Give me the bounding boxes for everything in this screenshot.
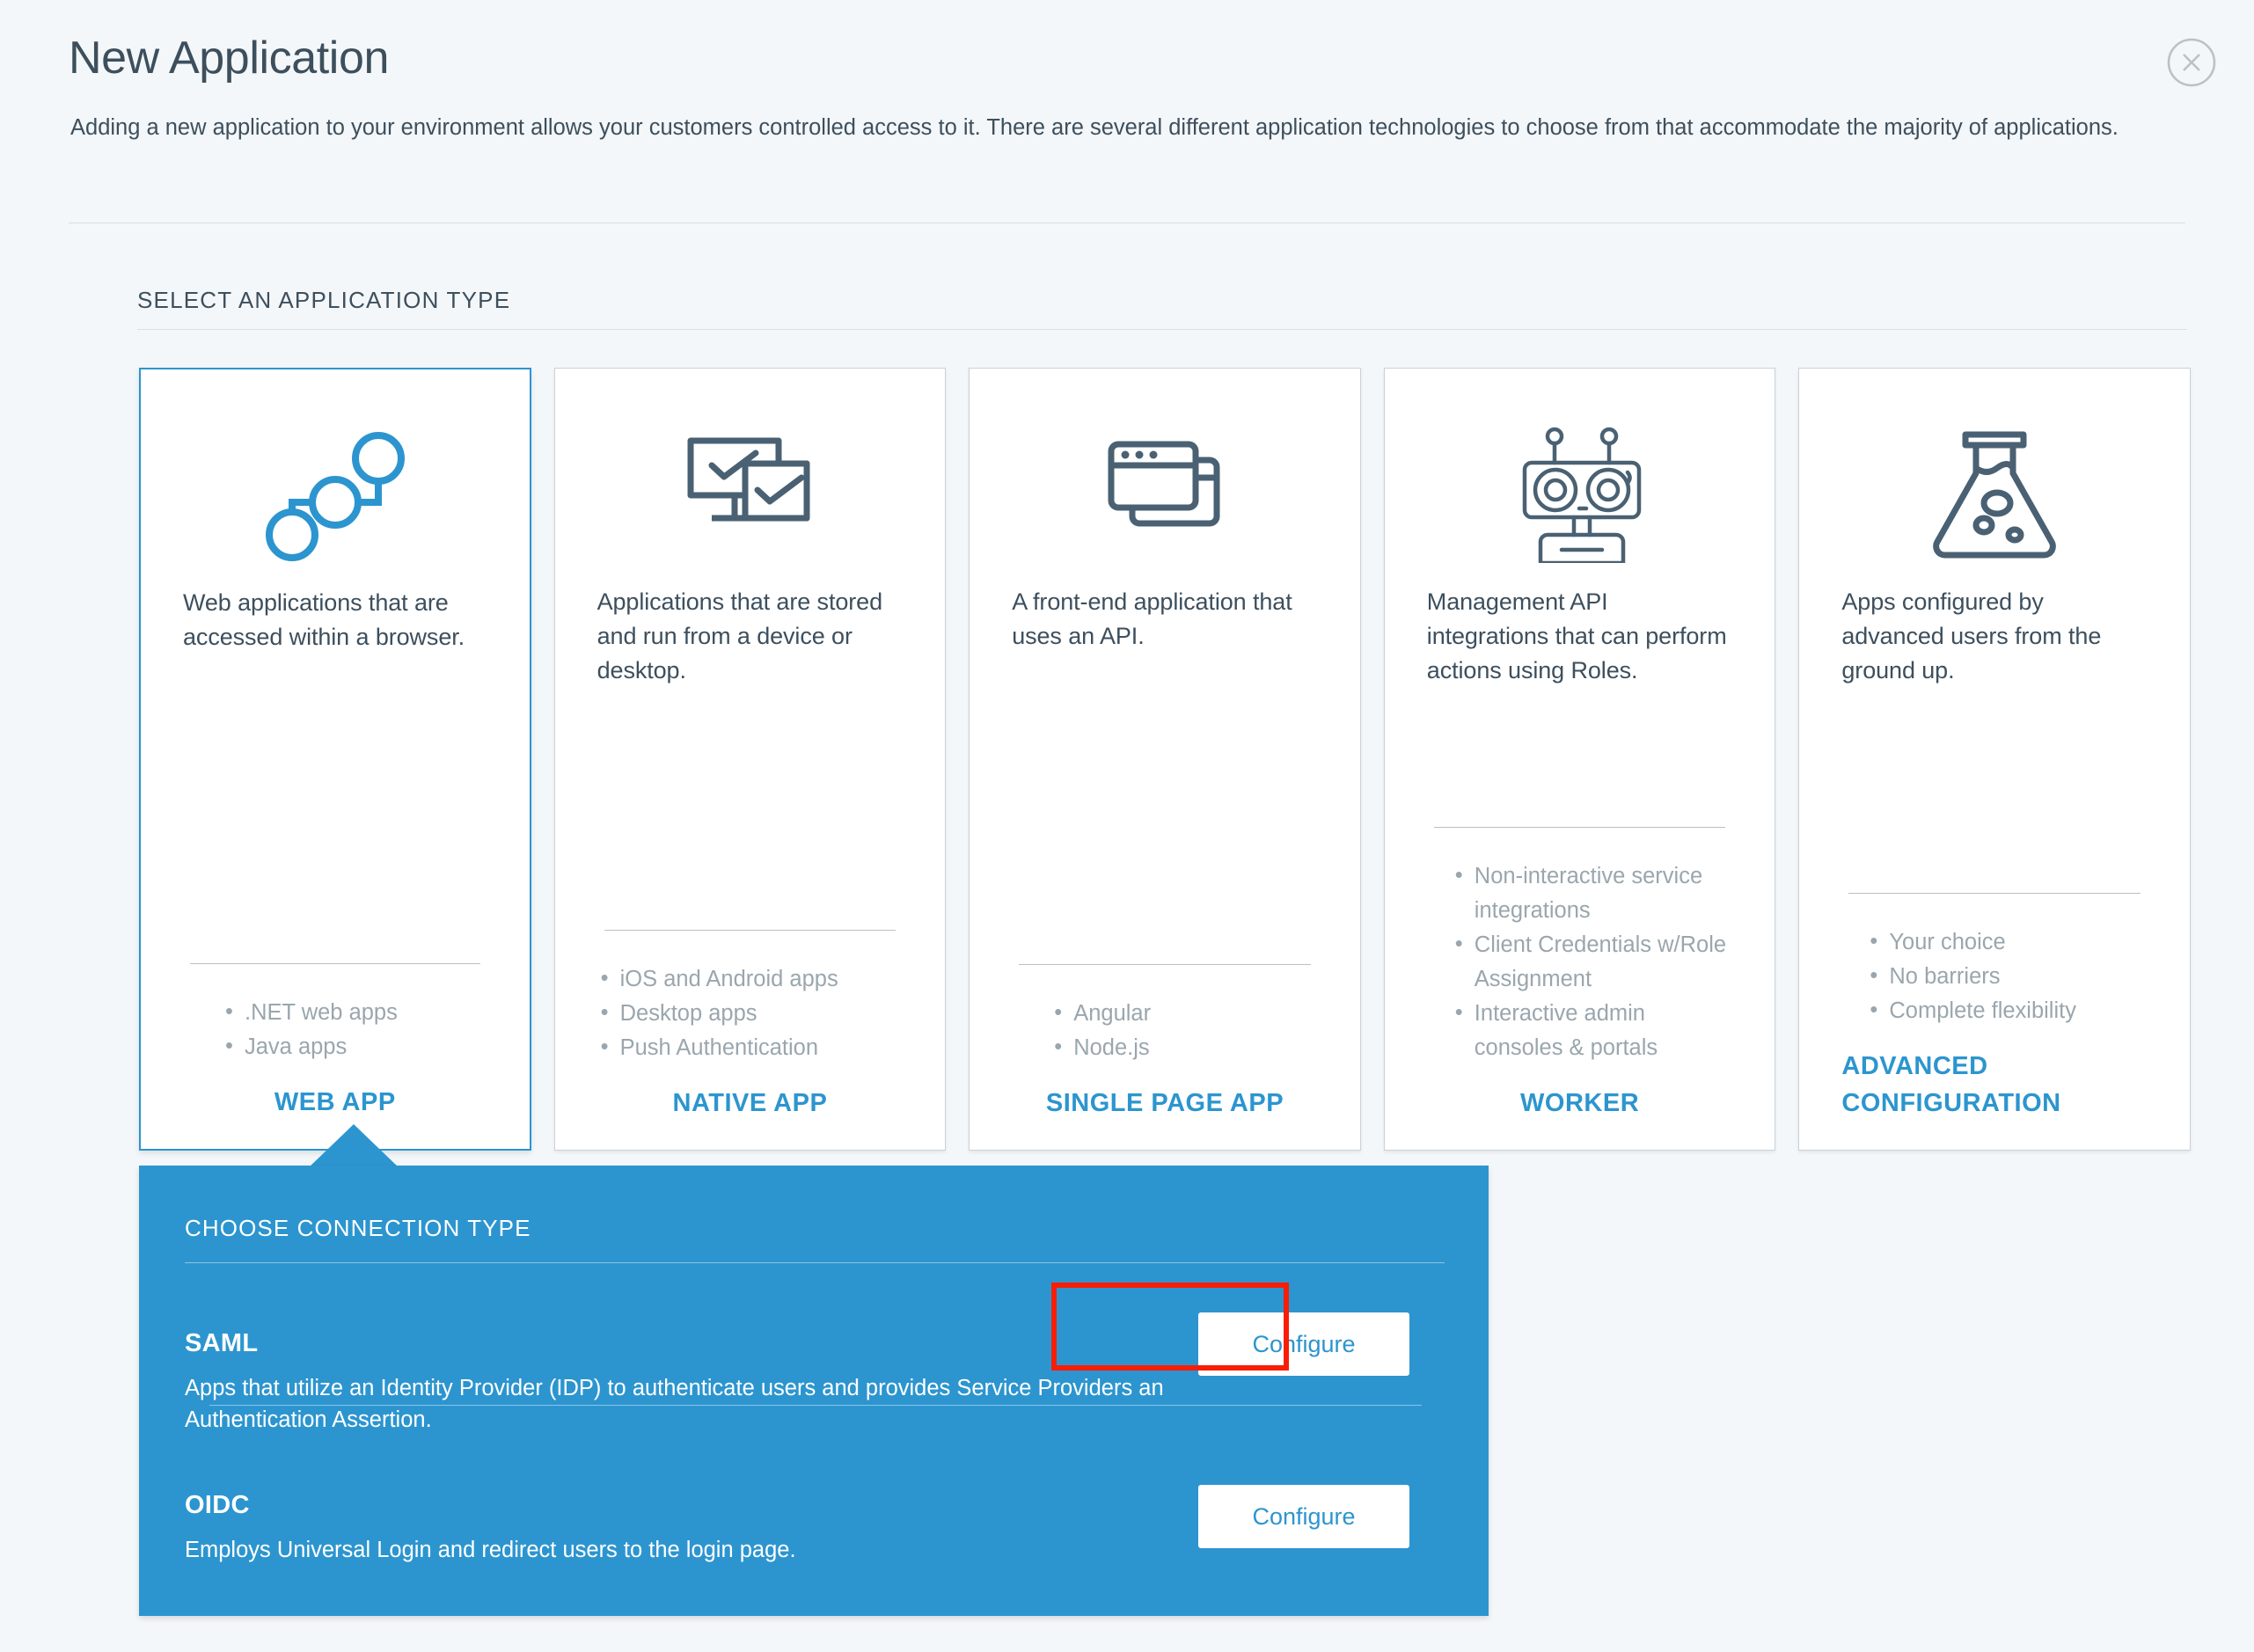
- list-item: Your choice: [1866, 925, 2148, 960]
- browser-windows-icon: [1012, 409, 1318, 576]
- choose-connection-type-panel: CHOOSE CONNECTION TYPE SAML Apps that ut…: [139, 1166, 1489, 1616]
- page-title: New Application: [69, 32, 389, 84]
- section-divider: [137, 329, 2187, 330]
- card-bullet-list: .NET web apps Java apps: [183, 996, 487, 1064]
- app-type-card-advanced-configuration[interactable]: Apps configured by advanced users from t…: [1798, 368, 2191, 1151]
- list-item: Desktop apps: [597, 997, 904, 1031]
- card-description: Applications that are stored and run fro…: [597, 585, 904, 688]
- list-item: Node.js: [1050, 1031, 1318, 1065]
- configure-button-oidc[interactable]: Configure: [1198, 1485, 1409, 1548]
- card-description: Web applications that are accessed withi…: [183, 586, 487, 654]
- app-type-card-worker[interactable]: Management API integrations that can per…: [1384, 368, 1776, 1151]
- connection-description: Employs Universal Login and redirect use…: [185, 1534, 1179, 1566]
- connection-panel-pointer: [308, 1124, 399, 1168]
- card-bullet-list: Angular Node.js: [1012, 997, 1318, 1065]
- card-description: Apps configured by advanced users from t…: [1841, 585, 2148, 688]
- list-item: Java apps: [222, 1030, 487, 1064]
- app-type-card-web-app[interactable]: Web applications that are accessed withi…: [139, 368, 531, 1151]
- list-item: Angular: [1050, 997, 1318, 1031]
- list-item: Client Credentials w/Role Assignment: [1452, 928, 1733, 997]
- connection-panel-divider: [185, 1262, 1445, 1263]
- connection-description: Apps that utilize an Identity Provider (…: [185, 1372, 1179, 1436]
- card-description: Management API integrations that can per…: [1427, 585, 1733, 688]
- card-bullet-list: iOS and Android apps Desktop apps Push A…: [597, 962, 904, 1065]
- card-title[interactable]: WORKER: [1427, 1085, 1733, 1122]
- list-item: Push Authentication: [597, 1031, 904, 1065]
- list-item: .NET web apps: [222, 996, 487, 1030]
- card-bullet-list: Your choice No barriers Complete flexibi…: [1841, 925, 2148, 1028]
- monitor-checkbox-icon: [597, 409, 904, 576]
- card-divider: [1848, 893, 2141, 894]
- list-item: No barriers: [1866, 960, 2148, 994]
- card-title[interactable]: NATIVE APP: [597, 1085, 904, 1122]
- card-bullet-list: Non-interactive service integrations Cli…: [1427, 859, 1733, 1065]
- list-item: Non-interactive service integrations: [1452, 859, 1733, 928]
- node-graph-icon: [183, 410, 487, 577]
- list-item: Interactive admin consoles & portals: [1452, 997, 1733, 1065]
- card-description: A front-end application that uses an API…: [1012, 585, 1318, 654]
- connection-row-divider: [209, 1405, 1422, 1406]
- list-item: iOS and Android apps: [597, 962, 904, 997]
- list-item: Complete flexibility: [1866, 994, 2148, 1028]
- card-divider: [1434, 827, 1726, 828]
- connection-row-oidc: OIDC Employs Universal Login and redirec…: [185, 1491, 1179, 1566]
- card-title[interactable]: ADVANCED CONFIGURATION: [1841, 1048, 2148, 1122]
- robot-icon: [1427, 409, 1733, 576]
- configure-button-saml[interactable]: Configure: [1198, 1312, 1409, 1376]
- card-divider: [1019, 964, 1311, 965]
- card-divider: [190, 963, 480, 964]
- flask-icon: [1841, 409, 2148, 576]
- connection-panel-title: CHOOSE CONNECTION TYPE: [185, 1215, 531, 1242]
- connection-name: SAML: [185, 1329, 1179, 1358]
- card-divider: [604, 930, 896, 931]
- card-title[interactable]: WEB APP: [183, 1084, 487, 1121]
- connection-name: OIDC: [185, 1491, 1179, 1520]
- section-label: SELECT AN APPLICATION TYPE: [137, 287, 510, 314]
- app-type-card-single-page-app[interactable]: A front-end application that uses an API…: [969, 368, 1361, 1151]
- close-icon[interactable]: [2166, 37, 2217, 88]
- new-application-modal: New Application Adding a new application…: [0, 0, 2254, 1652]
- card-title[interactable]: SINGLE PAGE APP: [1012, 1085, 1318, 1122]
- page-description: Adding a new application to your environ…: [70, 113, 2182, 143]
- header-divider: [69, 223, 2185, 223]
- app-type-card-native-app[interactable]: Applications that are stored and run fro…: [554, 368, 947, 1151]
- connection-row-saml: SAML Apps that utilize an Identity Provi…: [185, 1329, 1179, 1436]
- application-type-cards: Web applications that are accessed withi…: [139, 368, 2191, 1151]
